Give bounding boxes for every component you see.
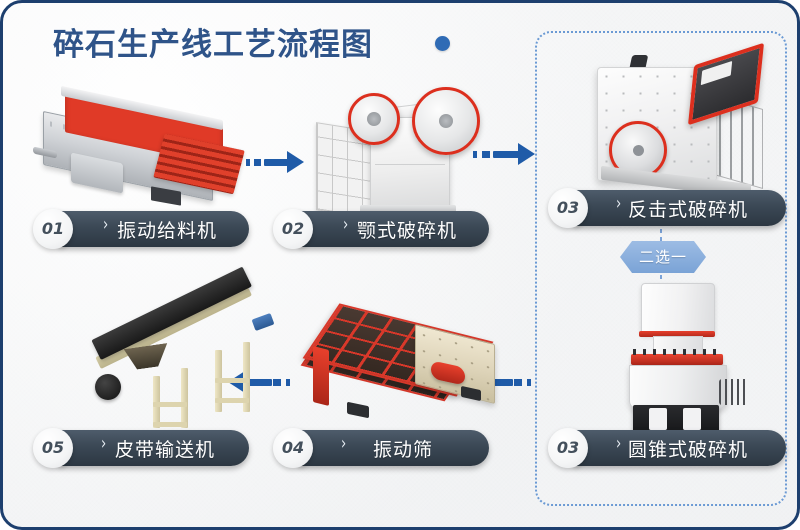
impact-lifting-lug (630, 55, 649, 67)
step-number-badge: 04 (273, 428, 313, 468)
arrow-shaft (493, 151, 520, 158)
conveyor-leg (181, 368, 188, 428)
page-title: 碎石生产线工艺流程图 (53, 19, 373, 64)
step-label-text: 振动筛 (373, 435, 433, 462)
option-connector-top (660, 229, 662, 243)
screen-foot-left (347, 402, 369, 419)
arrow-head (287, 151, 304, 173)
chevron-right-icon: › (343, 215, 348, 235)
equipment-image-belt-conveyor (95, 298, 280, 433)
equipment-image-vibrating-feeder (31, 101, 246, 211)
cone-adjustment-ring (631, 354, 723, 365)
step-label-text: 皮带输送机 (115, 435, 215, 462)
jaw-flywheel-front (412, 87, 480, 155)
choose-one-badge: 二选一 (620, 241, 706, 273)
equipment-image-cone-crusher (603, 283, 763, 438)
cone-main-frame (629, 365, 727, 409)
chevron-right-icon: › (616, 194, 621, 214)
flow-arrow-1 (246, 151, 304, 173)
step-number-badge: 01 (33, 209, 73, 249)
cone-feed-hopper (641, 283, 715, 335)
conveyor-brace (153, 422, 187, 427)
step-number-badge: 03 (548, 428, 588, 468)
arrow-dash (482, 151, 490, 158)
chevron-right-icon: › (616, 434, 621, 454)
arrow-dash (254, 159, 261, 166)
conveyor-brace (215, 398, 249, 403)
arrow-dot (527, 379, 531, 386)
jaw-flywheel-rear (348, 93, 400, 145)
step-label-text: 颚式破碎机 (357, 216, 457, 243)
arrow-dot (286, 379, 290, 386)
chevron-right-icon: › (103, 215, 108, 235)
arrow-head (518, 143, 535, 165)
screen-side-rail (313, 346, 329, 406)
conveyor-brace (153, 402, 187, 407)
flow-arrow-2 (473, 143, 535, 165)
conveyor-belt (91, 267, 252, 360)
conveyor-brace (215, 378, 249, 383)
cone-drive-motor (719, 379, 749, 405)
chevron-right-icon: › (101, 434, 106, 454)
step-number-badge: 03 (548, 188, 588, 228)
arrow-shaft (264, 159, 289, 166)
step-label-text: 反击式破碎机 (628, 195, 748, 222)
equipment-image-impact-crusher (579, 49, 779, 199)
title-accent-dot (435, 36, 450, 51)
arrow-dot (246, 159, 250, 166)
step-label-text: 圆锥式破碎机 (628, 435, 748, 462)
conveyor-tail-pulley (95, 374, 121, 400)
equipment-image-jaw-crusher (308, 75, 483, 215)
chevron-right-icon: › (341, 434, 346, 454)
step-number-badge: 02 (273, 209, 313, 249)
conveyor-head-drive (252, 313, 275, 331)
step-number-badge: 05 (33, 428, 73, 468)
arrow-dot (473, 151, 477, 158)
arrow-dash (514, 379, 522, 386)
equipment-image-vibrating-screen (303, 308, 503, 428)
flowchart-page: 碎石生产线工艺流程图 (0, 0, 800, 530)
step-label-text: 振动给料机 (117, 216, 217, 243)
